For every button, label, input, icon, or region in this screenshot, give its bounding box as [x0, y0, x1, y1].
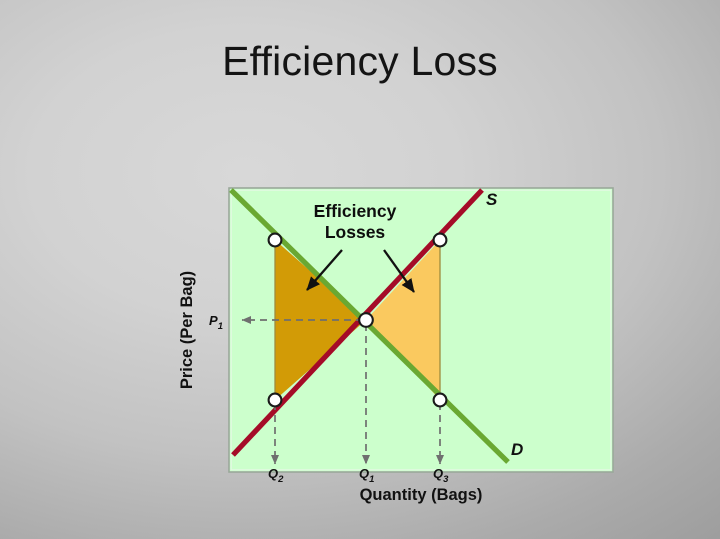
- marker-supply-at-q3: [434, 234, 447, 247]
- y-tick-p1-base: P: [209, 313, 218, 328]
- slide: Efficiency Loss D: [0, 0, 720, 539]
- y-axis-title: Price (Per Bag): [178, 271, 196, 389]
- x-tick-q2-base: Q: [268, 466, 278, 481]
- demand-curve-label: D: [511, 440, 523, 459]
- x-tick-q1-base: Q: [359, 466, 369, 481]
- y-tick-p1-sub: 1: [218, 321, 223, 332]
- marker-demand-at-q3: [434, 394, 447, 407]
- x-tick-q2-sub: 2: [277, 474, 284, 485]
- x-tick-q3-base: Q: [433, 466, 443, 481]
- supply-curve-label: S: [486, 190, 498, 209]
- efficiency-losses-line2: Losses: [325, 222, 386, 242]
- x-tick-q1-sub: 1: [369, 474, 374, 485]
- x-axis-title: Quantity (Bags): [360, 486, 483, 504]
- y-axis-tick-labels: P1: [209, 313, 223, 332]
- marker-supply-at-q2: [269, 394, 282, 407]
- efficiency-loss-chart: D S Efficiency Losse: [0, 0, 720, 539]
- marker-demand-at-q2: [269, 234, 282, 247]
- x-tick-q3-sub: 3: [443, 474, 449, 485]
- efficiency-losses-line1: Efficiency: [314, 201, 397, 221]
- y-tick-p1: P1: [209, 313, 223, 332]
- marker-equilibrium: [359, 313, 373, 327]
